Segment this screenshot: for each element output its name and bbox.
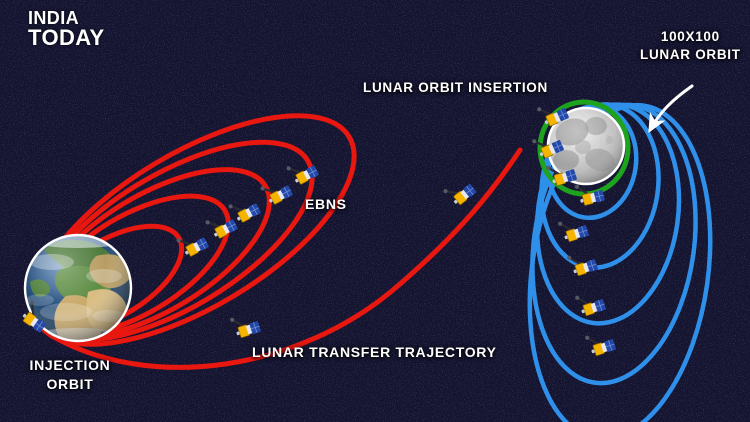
india-today-logo: INDIA TODAY xyxy=(28,10,105,48)
infographic-canvas: INDIA TODAY INJECTION ORBIT LUNAR TRANSF… xyxy=(0,0,750,422)
label-ebns: EBNS xyxy=(305,196,347,212)
label-injection-orbit: INJECTION ORBIT xyxy=(6,356,134,394)
label-lunar-orbit-insertion: LUNAR ORBIT INSERTION xyxy=(363,80,548,95)
label-100x100-lunar-orbit: 100X100 LUNAR ORBIT xyxy=(640,28,741,64)
logo-line-2: TODAY xyxy=(28,27,105,48)
label-lunar-transfer-trajectory: LUNAR TRANSFER TRAJECTORY xyxy=(252,344,497,360)
